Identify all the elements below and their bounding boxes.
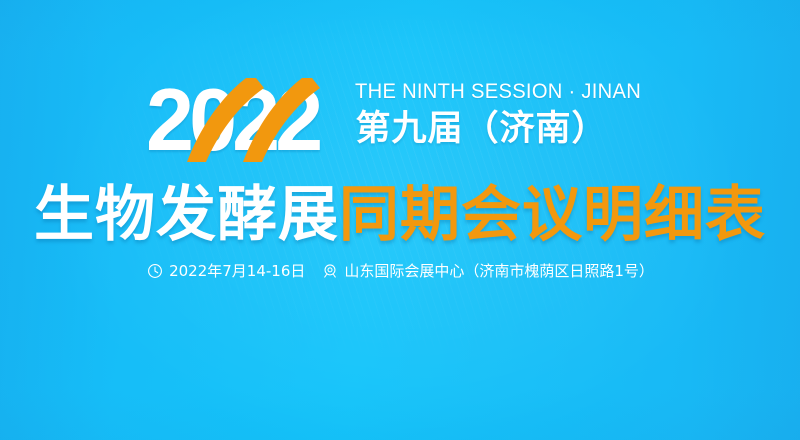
event-venue-item: 山东国际会展中心（济南市槐荫区日照路1号） <box>321 260 654 282</box>
banner-content: 2022 THE NINTH SESSION · JINAN 第九届（济南） 生… <box>0 0 800 440</box>
location-pin-icon <box>321 263 338 280</box>
event-venue-text: 山东国际会展中心（济南市槐荫区日照路1号） <box>344 260 654 282</box>
event-date-text: 2022年7月14-16日 <box>169 260 305 282</box>
event-info-line: 2022年7月14-16日 山东国际会展中心（济南市槐荫区日照路1号） <box>0 260 800 282</box>
event-date-item: 2022年7月14-16日 <box>146 260 305 282</box>
clock-icon <box>146 263 163 280</box>
event-logo-block: 2022 THE NINTH SESSION · JINAN 第九届（济南） <box>0 78 800 162</box>
session-english-label: THE NINTH SESSION · JINAN <box>355 80 641 104</box>
event-banner: 2022 THE NINTH SESSION · JINAN 第九届（济南） 生… <box>0 0 800 440</box>
headline-part-exhibition: 生物发酵展 <box>34 180 339 250</box>
year-text: 2022 <box>146 78 318 162</box>
session-chinese-label: 第九届（济南） <box>355 107 653 151</box>
session-text-block: THE NINTH SESSION · JINAN 第九届（济南） <box>355 78 653 151</box>
year-logo: 2022 <box>146 78 341 162</box>
headline-part-schedule: 同期会议明细表 <box>339 180 766 250</box>
page-title: 生物发酵展同期会议明细表 <box>0 182 800 248</box>
